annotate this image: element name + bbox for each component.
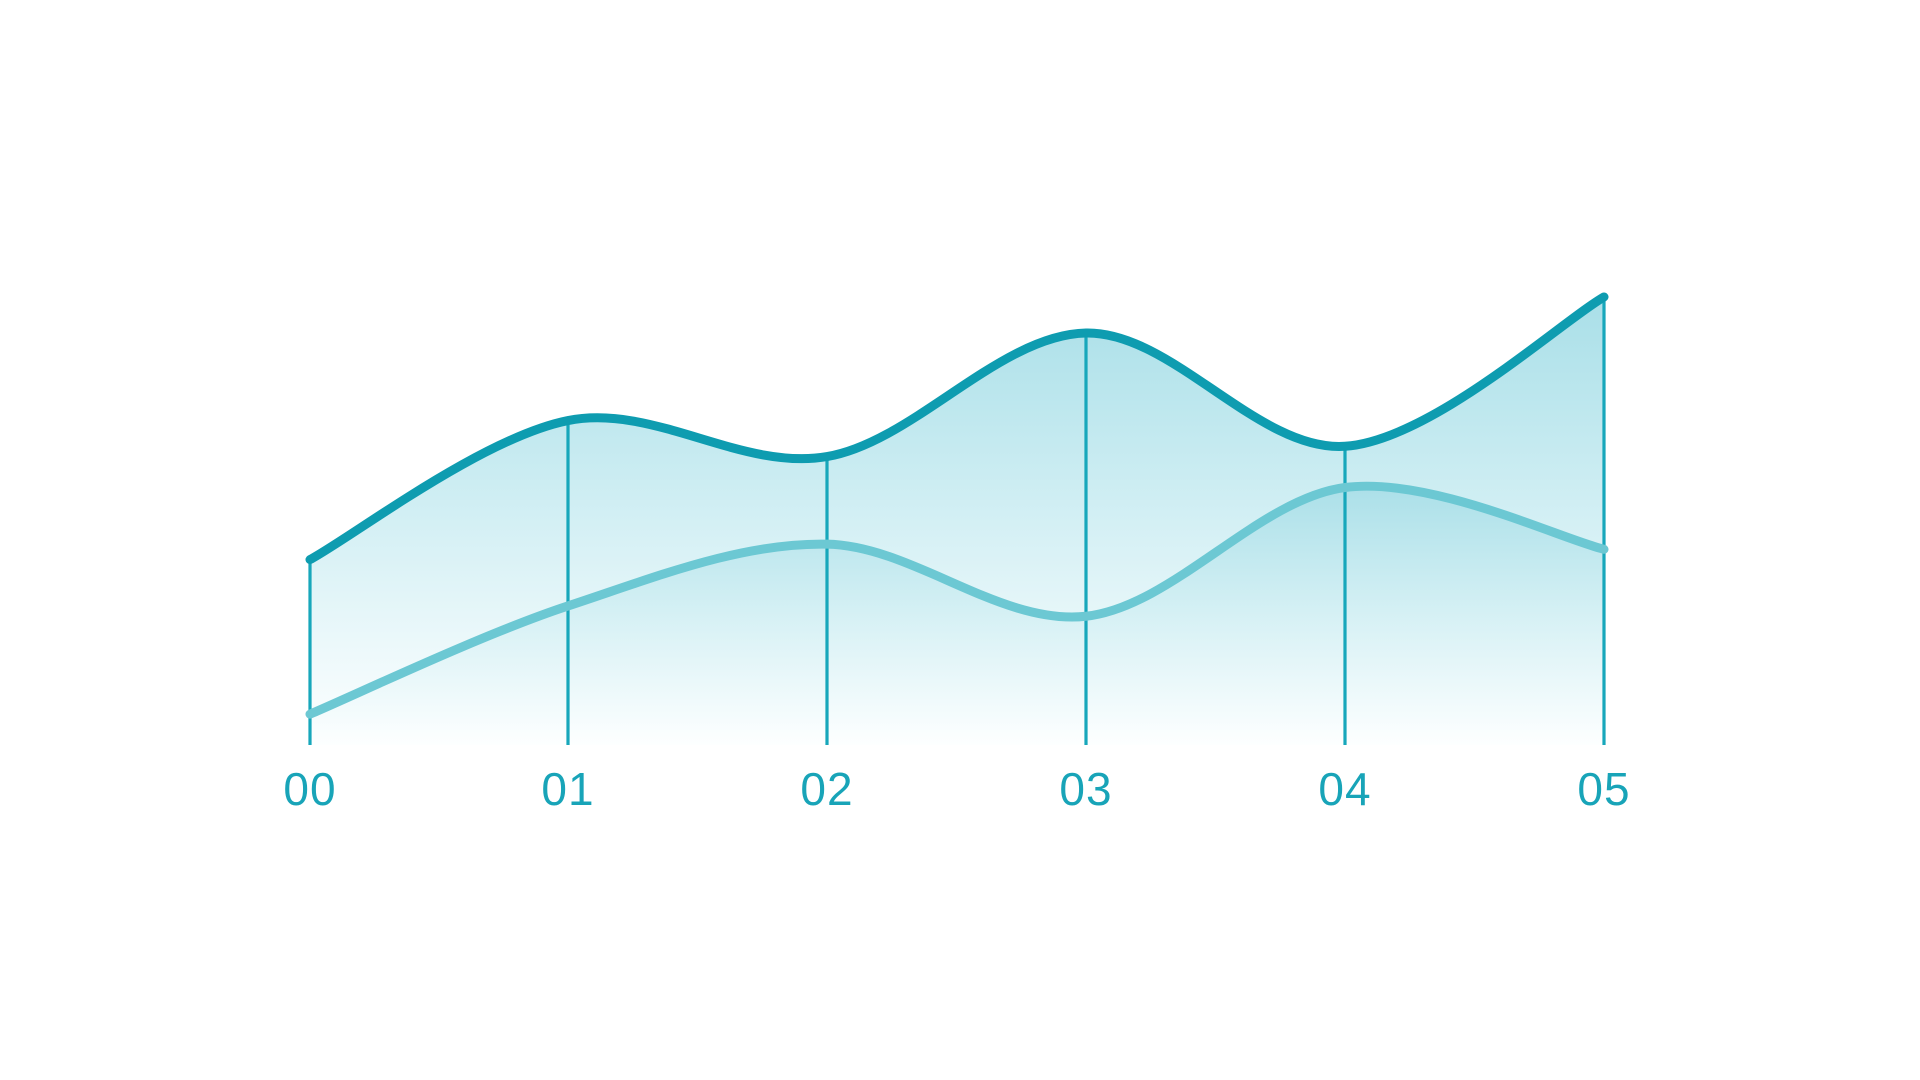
chart-container: 000102030405 [0, 0, 1920, 1080]
x-tick-label-03: 03 [1059, 763, 1112, 815]
area-chart: 000102030405 [0, 0, 1920, 1080]
x-tick-label-04: 04 [1318, 763, 1371, 815]
x-tick-label-05: 05 [1577, 763, 1630, 815]
x-tick-label-01: 01 [541, 763, 594, 815]
plot-area [310, 297, 1604, 745]
x-tick-label-02: 02 [800, 763, 853, 815]
x-tick-label-00: 00 [283, 763, 336, 815]
x-axis-tick-labels: 000102030405 [283, 763, 1630, 815]
